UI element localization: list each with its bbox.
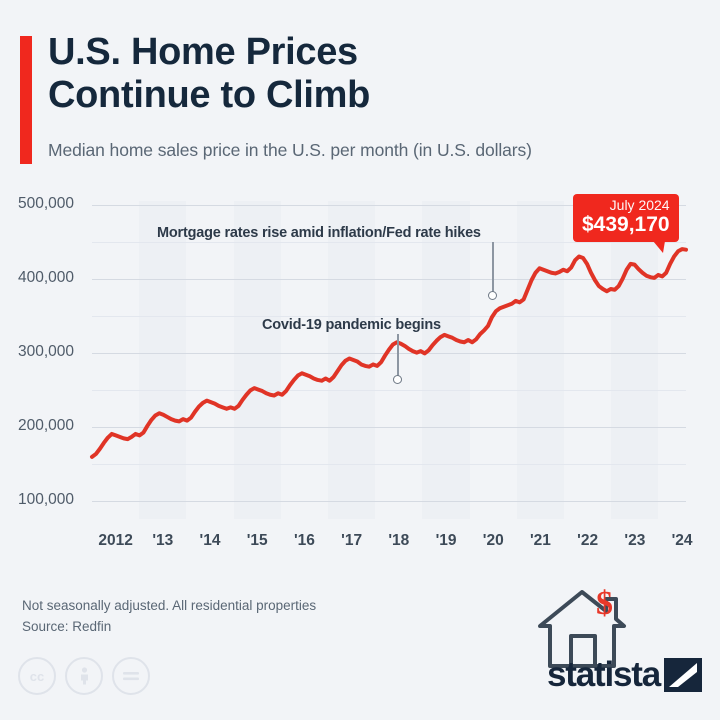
plot-area: Mortgage rates rise amid inflation/Fed r…: [92, 201, 686, 519]
y-axis-tick-label: 100,000: [18, 491, 74, 509]
statista-logo: statista: [547, 657, 702, 692]
callout-date: July 2024: [582, 198, 670, 213]
infographic-page: U.S. Home Prices Continue to Climb Media…: [0, 0, 720, 720]
cc-icon: cc: [18, 657, 56, 695]
page-title: U.S. Home Prices Continue to Climb: [48, 31, 370, 117]
statista-wordmark: statista: [547, 657, 660, 692]
chart: Mortgage rates rise amid inflation/Fed r…: [0, 180, 720, 580]
callout-value: $439,170: [582, 213, 670, 236]
creative-commons-badges: cc: [18, 657, 150, 695]
leader-line-covid: [397, 334, 399, 378]
footer-notes: Not seasonally adjusted. All residential…: [22, 596, 316, 638]
annotation-mortgage-rates: Mortgage rates rise amid inflation/Fed r…: [157, 225, 481, 241]
accent-bar: [20, 36, 32, 164]
marker-covid: [393, 375, 402, 384]
statista-mark: [664, 658, 702, 692]
y-axis-tick-label: 500,000: [18, 195, 74, 213]
y-axis-tick-label: 400,000: [18, 269, 74, 287]
marker-mortgage-rates: [488, 291, 497, 300]
leader-line-mortgage-rates: [492, 242, 494, 294]
footer-source: Source: Redfin: [22, 617, 316, 638]
cc-by-person-icon: [65, 657, 103, 695]
annotation-covid: Covid-19 pandemic begins: [262, 317, 441, 333]
cc-nd-equals-icon: [112, 657, 150, 695]
title-line-2: Continue to Climb: [48, 74, 370, 117]
y-axis-tick-label: 200,000: [18, 417, 74, 435]
header: U.S. Home Prices Continue to Climb Media…: [0, 0, 720, 180]
price-line-series: [92, 201, 686, 519]
title-line-1: U.S. Home Prices: [48, 31, 370, 74]
value-callout: July 2024 $439,170: [573, 194, 679, 242]
x-axis-tick-label: '24: [652, 532, 712, 550]
footer-note: Not seasonally adjusted. All residential…: [22, 596, 316, 617]
y-axis-tick-label: 300,000: [18, 343, 74, 361]
page-subtitle: Median home sales price in the U.S. per …: [48, 140, 532, 161]
dollar-icon: $: [596, 585, 613, 623]
